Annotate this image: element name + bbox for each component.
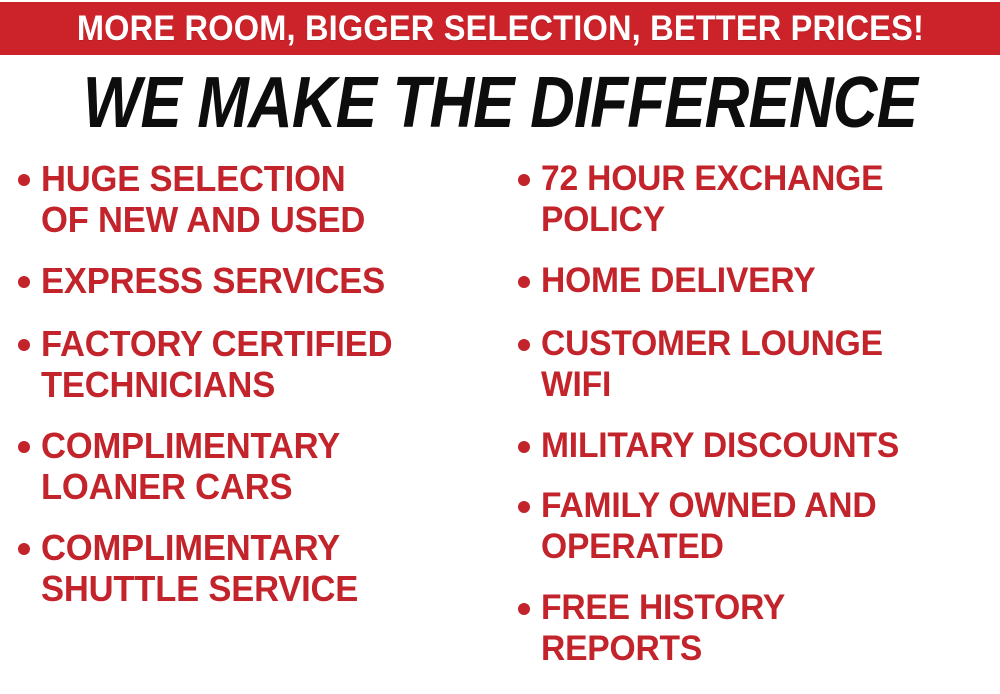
- bullet-dot-icon: [18, 441, 30, 453]
- list-item-label: EXPRESS SERVICES: [41, 260, 385, 301]
- list-item: HUGE SELECTION OF NEW AND USED: [18, 158, 510, 240]
- headline-text: WE MAKE THE DIFFERENCE: [83, 66, 917, 140]
- dealership-benefits-banner: MORE ROOM, BIGGER SELECTION, BETTER PRIC…: [0, 0, 1000, 694]
- benefits-columns: HUGE SELECTION OF NEW AND USED EXPRESS S…: [0, 158, 1000, 688]
- list-item: EXPRESS SERVICES: [18, 260, 510, 301]
- list-item: FACTORY CERTIFIED TECHNICIANS: [18, 323, 510, 405]
- list-item-label: FAMILY OWNED AND OPERATED: [541, 485, 876, 567]
- list-item-label: MILITARY DISCOUNTS: [541, 425, 899, 466]
- list-item-label: HOME DELIVERY: [541, 260, 815, 301]
- list-item: FREE HISTORY REPORTS: [518, 587, 1000, 669]
- list-item: CUSTOMER LOUNGE WIFI: [518, 323, 1000, 405]
- benefits-column-left: HUGE SELECTION OF NEW AND USED EXPRESS S…: [18, 158, 510, 625]
- list-item-label: COMPLIMENTARY LOANER CARS: [41, 425, 340, 507]
- list-item-label: FREE HISTORY REPORTS: [541, 587, 785, 669]
- list-item-label: COMPLIMENTARY SHUTTLE SERVICE: [41, 527, 358, 609]
- top-promo-strip-text: MORE ROOM, BIGGER SELECTION, BETTER PRIC…: [76, 11, 923, 46]
- list-item-label: 72 HOUR EXCHANGE POLICY: [541, 158, 883, 240]
- list-item: FAMILY OWNED AND OPERATED: [518, 485, 1000, 567]
- list-item: 72 HOUR EXCHANGE POLICY: [518, 158, 1000, 240]
- list-item: COMPLIMENTARY LOANER CARS: [18, 425, 510, 507]
- list-item-label: HUGE SELECTION OF NEW AND USED: [41, 158, 365, 240]
- list-item: MILITARY DISCOUNTS: [518, 425, 1000, 466]
- headline: WE MAKE THE DIFFERENCE: [0, 66, 1000, 140]
- bullet-dot-icon: [518, 603, 530, 615]
- bullet-dot-icon: [18, 339, 30, 351]
- list-item: HOME DELIVERY: [518, 260, 1000, 301]
- list-item: COMPLIMENTARY SHUTTLE SERVICE: [18, 527, 510, 609]
- bullet-dot-icon: [18, 174, 30, 186]
- bullet-dot-icon: [518, 501, 530, 513]
- list-item-label: CUSTOMER LOUNGE WIFI: [541, 323, 883, 405]
- list-item-label: FACTORY CERTIFIED TECHNICIANS: [41, 323, 392, 405]
- bullet-dot-icon: [18, 543, 30, 555]
- bullet-dot-icon: [518, 339, 530, 351]
- benefits-column-right: 72 HOUR EXCHANGE POLICY HOME DELIVERY CU…: [518, 158, 1000, 685]
- top-promo-strip: MORE ROOM, BIGGER SELECTION, BETTER PRIC…: [0, 2, 1000, 55]
- bullet-dot-icon: [518, 276, 530, 288]
- bullet-dot-icon: [518, 441, 530, 453]
- bullet-dot-icon: [18, 276, 30, 288]
- bullet-dot-icon: [518, 174, 530, 186]
